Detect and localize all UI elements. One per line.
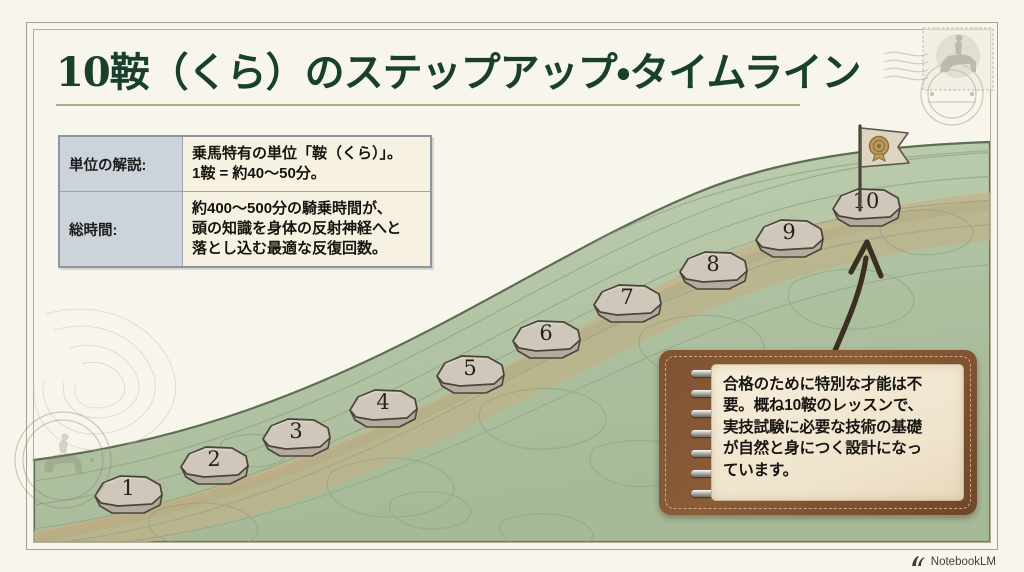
note-line-3: 実技試験に必要な技術の基礎 — [723, 417, 953, 438]
horse-seal-watermark-icon — [8, 405, 118, 515]
unit-line-1: 乗馬特有の単位「鞍（くら）」。 — [192, 144, 421, 164]
total-line-1: 約400〜500分の騎乗時間が、 — [192, 199, 421, 219]
stepping-stone-5[interactable]: 5 — [432, 352, 508, 398]
unit-line-2: 1鞍 = 約40〜50分。 — [192, 164, 421, 184]
notebooklm-logo-icon — [911, 555, 926, 568]
table-label-unit: 単位の解説: — [59, 136, 183, 192]
stepping-stone-9[interactable]: 9 — [751, 216, 827, 262]
note-paper: 合格のために特別な才能は不 要。概ね10鞍のレッスンで、 実技試験に必要な技術の… — [711, 364, 964, 501]
page-title: 10鞍（くら）のステップアップ・タイムライン — [56, 40, 860, 98]
horse-rider-postage-stamp-icon — [890, 20, 1010, 130]
table-row: 単位の解説: 乗馬特有の単位「鞍（くら）」。 1鞍 = 約40〜50分。 — [59, 136, 431, 192]
table-value-unit: 乗馬特有の単位「鞍（くら）」。 1鞍 = 約40〜50分。 — [183, 136, 432, 192]
table-label-total-time: 総時間: — [59, 192, 183, 268]
stepping-stone-3[interactable]: 3 — [258, 415, 334, 461]
info-table: 単位の解説: 乗馬特有の単位「鞍（くら）」。 1鞍 = 約40〜50分。 総時間… — [58, 135, 432, 268]
horse-silhouette — [44, 433, 82, 473]
goal-flag — [846, 122, 916, 212]
table-value-total-time: 約400〜500分の騎乗時間が、 頭の知識を身体の反射神経へと 落とし込む最適な… — [183, 192, 432, 268]
title-divider — [56, 104, 800, 106]
notebooklm-footer: NotebookLM — [911, 555, 996, 568]
stepping-stone-7[interactable]: 7 — [589, 281, 665, 327]
note-card: 合格のために特別な才能は不 要。概ね10鞍のレッスンで、 実技試験に必要な技術の… — [659, 350, 977, 515]
note-line-2: 要。概ね10鞍のレッスンで、 — [723, 395, 953, 416]
stepping-stone-8[interactable]: 8 — [675, 248, 751, 294]
total-line-3: 落とし込む最適な反復回数。 — [192, 239, 421, 259]
table-row: 総時間: 約400〜500分の騎乗時間が、 頭の知識を身体の反射神経へと 落とし… — [59, 192, 431, 268]
stepping-stone-4[interactable]: 4 — [345, 386, 421, 432]
cancellation-waves — [884, 52, 928, 79]
note-line-5: ています。 — [723, 460, 953, 481]
note-line-1: 合格のために特別な才能は不 — [723, 374, 953, 395]
stepping-stone-2[interactable]: 2 — [176, 443, 252, 489]
total-line-2: 頭の知識を身体の反射神経へと — [192, 219, 421, 239]
note-line-4: が自然と身につく設計になっ — [723, 438, 953, 459]
footer-brand-label: NotebookLM — [931, 556, 996, 568]
stepping-stone-6[interactable]: 6 — [508, 317, 584, 363]
slide-canvas: 10鞍（くら）のステップアップ・タイムライン 単位の解説: 乗馬特有の単位「鞍（… — [0, 0, 1024, 572]
